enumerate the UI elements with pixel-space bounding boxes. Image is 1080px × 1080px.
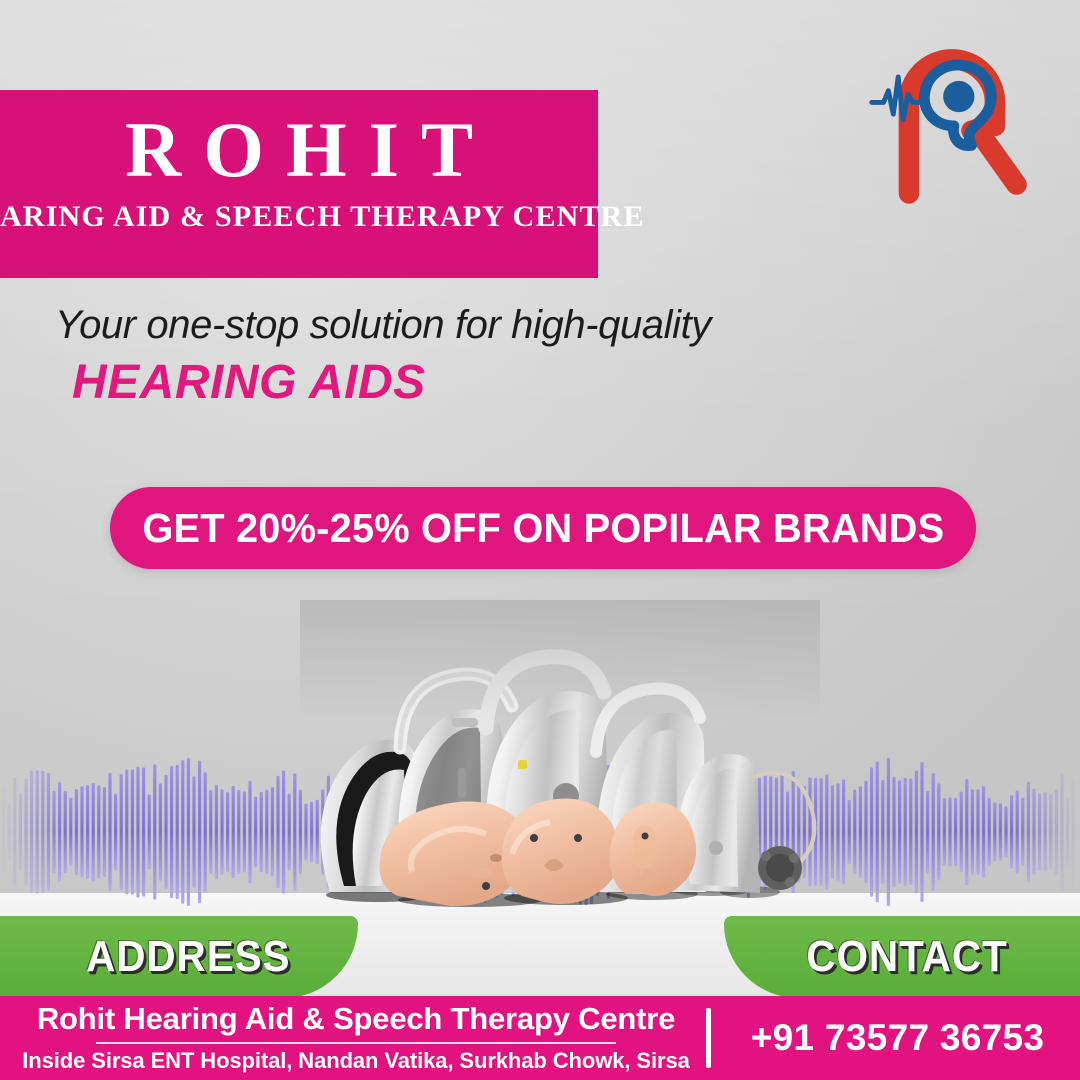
offer-badge: GET 20%-25% OFF ON POPILAR BRANDS: [110, 487, 976, 569]
contact-banner-label: CONTACT: [797, 932, 1008, 982]
headline-emphasis: HEARING AIDS: [72, 355, 426, 410]
audio-waveform-icon: [0, 752, 1080, 912]
address-banner: ADDRESS: [0, 916, 358, 998]
address-divider-rule: [96, 1042, 616, 1044]
tagline: Your one-stop solution for high-quality: [55, 303, 711, 348]
footer-bar: Rohit Hearing Aid & Speech Therapy Centr…: [0, 996, 1080, 1080]
contact-banner: CONTACT: [724, 916, 1080, 998]
address-banner-label: ADDRESS: [68, 932, 291, 982]
logo-banner: ROHIT HEARING AID & SPEECH THERAPY CENTR…: [0, 90, 598, 278]
phone-number[interactable]: +91 73577 36753: [747, 1017, 1045, 1059]
brand-name: ROHIT: [103, 106, 495, 193]
address-line-1: Rohit Hearing Aid & Speech Therapy Centr…: [37, 1002, 675, 1036]
offer-text: GET 20%-25% OFF ON POPILAR BRANDS: [142, 505, 944, 552]
address-line-2: Inside Sirsa ENT Hospital, Nandan Vatika…: [22, 1048, 689, 1074]
hearing-aids-product-image: [0, 600, 1080, 930]
footer-contact-block[interactable]: +91 73577 36753: [711, 1017, 1080, 1059]
ear-head-waveform-logo-icon: [862, 32, 1038, 208]
poster-canvas: ROHIT HEARING AID & SPEECH THERAPY CENTR…: [0, 0, 1080, 1080]
brand-subtitle: HEARING AID & SPEECH THERAPY CENTRE: [0, 201, 644, 234]
footer-address-block: Rohit Hearing Aid & Speech Therapy Centr…: [0, 1002, 706, 1073]
